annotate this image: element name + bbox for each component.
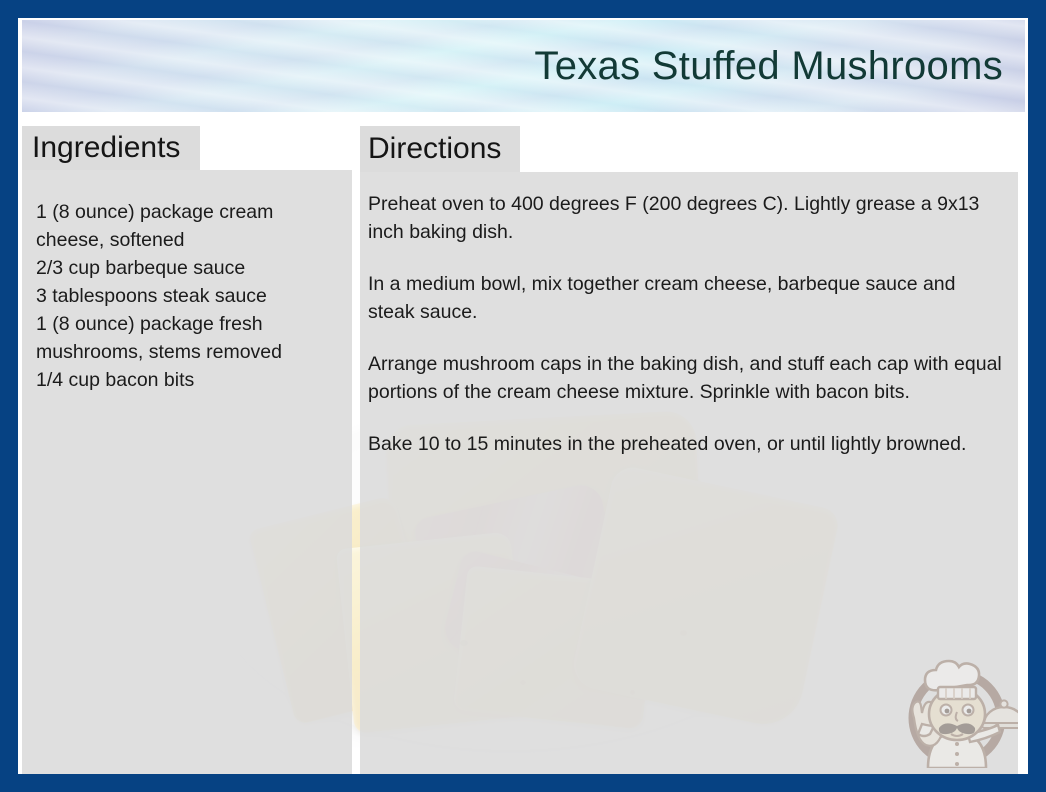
- ingredients-header-tab: Ingredients: [22, 126, 200, 170]
- title-banner: Texas Stuffed Mushrooms: [22, 20, 1025, 112]
- direction-step: Bake 10 to 15 minutes in the preheated o…: [368, 430, 1002, 458]
- chef-icon: [896, 644, 1018, 768]
- frame-border-left: [0, 0, 18, 792]
- direction-step: In a medium bowl, mix together cream che…: [368, 270, 1002, 326]
- direction-step: Arrange mushroom caps in the baking dish…: [368, 350, 1002, 406]
- recipe-card: Texas Stuffed Mushrooms Ingredients 1 (8…: [0, 0, 1046, 792]
- directions-header-tab: Directions: [360, 126, 520, 172]
- ingredients-list: 1 (8 ounce) package cream cheese, soften…: [36, 198, 338, 394]
- frame-border-right: [1028, 0, 1046, 792]
- page-title: Texas Stuffed Mushrooms: [534, 44, 1025, 89]
- directions-heading: Directions: [360, 132, 501, 166]
- direction-step: Preheat oven to 400 degrees F (200 degre…: [368, 190, 1002, 246]
- ingredients-heading: Ingredients: [22, 131, 180, 165]
- ingredients-panel: 1 (8 ounce) package cream cheese, soften…: [22, 170, 352, 774]
- frame-border-top: [0, 0, 1046, 18]
- frame-border-bottom: [0, 774, 1046, 792]
- chef-mascot-logo: [896, 644, 1018, 768]
